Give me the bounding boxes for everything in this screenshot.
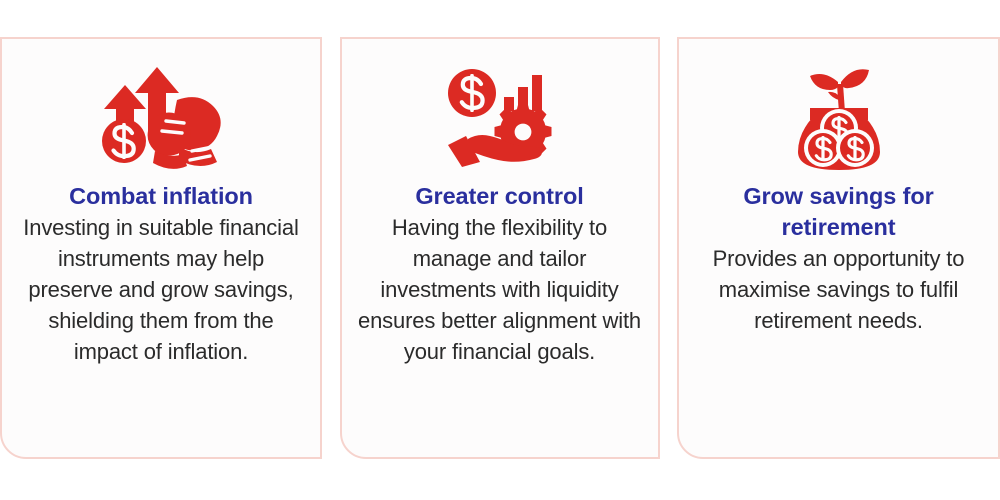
card-title: Greater control <box>415 181 583 212</box>
boxing-gloves-growth-arrows-dollar-coin-icon <box>100 61 222 173</box>
card-title: Combat inflation <box>69 181 253 212</box>
card-body: Having the flexibility to manage and tai… <box>354 212 646 367</box>
benefit-card-greater-control[interactable]: Greater control Having the flexibility t… <box>340 37 660 459</box>
money-bag-dollar-coins-sprouting-plant-icon <box>792 61 886 173</box>
benefit-card-combat-inflation[interactable]: Combat inflation Investing in suitable f… <box>0 37 322 459</box>
hand-holding-dollar-coin-bar-chart-gear-icon <box>446 61 554 173</box>
infographic-canvas: Combat inflation Investing in suitable f… <box>0 0 1000 500</box>
benefit-cards-row: Combat inflation Investing in suitable f… <box>0 37 1000 459</box>
card-title: Grow savings for retirement <box>687 181 990 243</box>
card-body: Investing in suitable financial instrume… <box>14 212 308 367</box>
benefit-card-grow-savings-retirement[interactable]: Grow savings for retirement Provides an … <box>677 37 1000 459</box>
card-body: Provides an opportunity to maximise savi… <box>692 243 986 336</box>
